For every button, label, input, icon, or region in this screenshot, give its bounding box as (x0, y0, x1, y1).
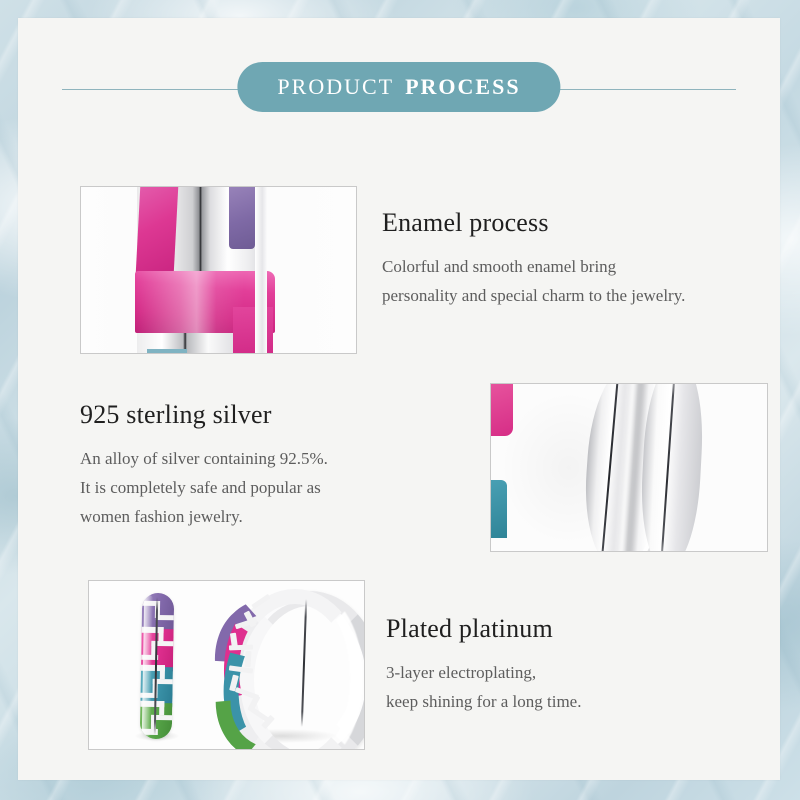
feature-image-925-sterling-silver (490, 383, 768, 552)
header-rule-right (530, 89, 736, 90)
greek-key-stroke (244, 651, 251, 667)
photo-stage (89, 581, 364, 749)
feature-text-925-sterling-silver: 925 sterling silver An alloy of silver c… (80, 400, 472, 531)
photo-stage (81, 187, 356, 353)
poster-header: PRODUCT PROCESS (18, 62, 780, 118)
hoop-gloss (267, 593, 363, 750)
greek-key-stroke (156, 615, 174, 620)
feature-text-plated-platinum: Plated platinum 3-layer electroplating, … (386, 614, 778, 716)
feature-image-enamel-process (80, 186, 357, 354)
feature-body-line: keep shining for a long time. (386, 687, 778, 716)
feature-body-line: personality and special charm to the jew… (382, 281, 774, 310)
feature-body: An alloy of silver containing 92.5%. It … (80, 444, 472, 531)
feature-image-plated-platinum (88, 580, 365, 750)
feature-body: Colorful and smooth enamel bring persona… (382, 252, 774, 310)
photo-stage (491, 384, 767, 551)
page-title-product: PRODUCT (277, 74, 394, 100)
pink-enamel-tail (233, 307, 273, 354)
earring-side-view (140, 593, 175, 740)
pink-enamel-edge (490, 383, 513, 436)
feature-heading: Plated platinum (386, 614, 778, 644)
feature-heading: Enamel process (382, 208, 774, 238)
poster-card: PRODUCT PROCESS Enamel process (18, 18, 780, 780)
greek-key-stroke (159, 701, 164, 715)
feature-body-line: It is completely safe and popular as (80, 473, 472, 502)
feature-body-line: 3-layer electroplating, (386, 658, 778, 687)
silver-edge-highlight (255, 186, 267, 354)
greek-key-stroke (229, 645, 253, 651)
feature-heading: 925 sterling silver (80, 400, 472, 430)
product-process-poster: PRODUCT PROCESS Enamel process (0, 0, 800, 800)
page-title-process: PROCESS (405, 74, 520, 100)
feature-body-line: women fashion jewelry. (80, 502, 472, 531)
purple-enamel-block (229, 186, 255, 249)
teal-enamel-sliver (147, 349, 187, 354)
feature-text-enamel-process: Enamel process Colorful and smooth ename… (382, 208, 774, 310)
earring-hoop-view (207, 589, 357, 741)
teal-enamel-edge (490, 480, 507, 538)
header-title-pill: PRODUCT PROCESS (237, 62, 560, 112)
greek-key-stroke (160, 665, 165, 679)
feature-body: 3-layer electroplating, keep shining for… (386, 658, 778, 716)
feature-body-line: An alloy of silver containing 92.5%. (80, 444, 472, 473)
feature-body-line: Colorful and smooth enamel bring (382, 252, 774, 281)
pink-enamel-vertical (135, 186, 178, 279)
